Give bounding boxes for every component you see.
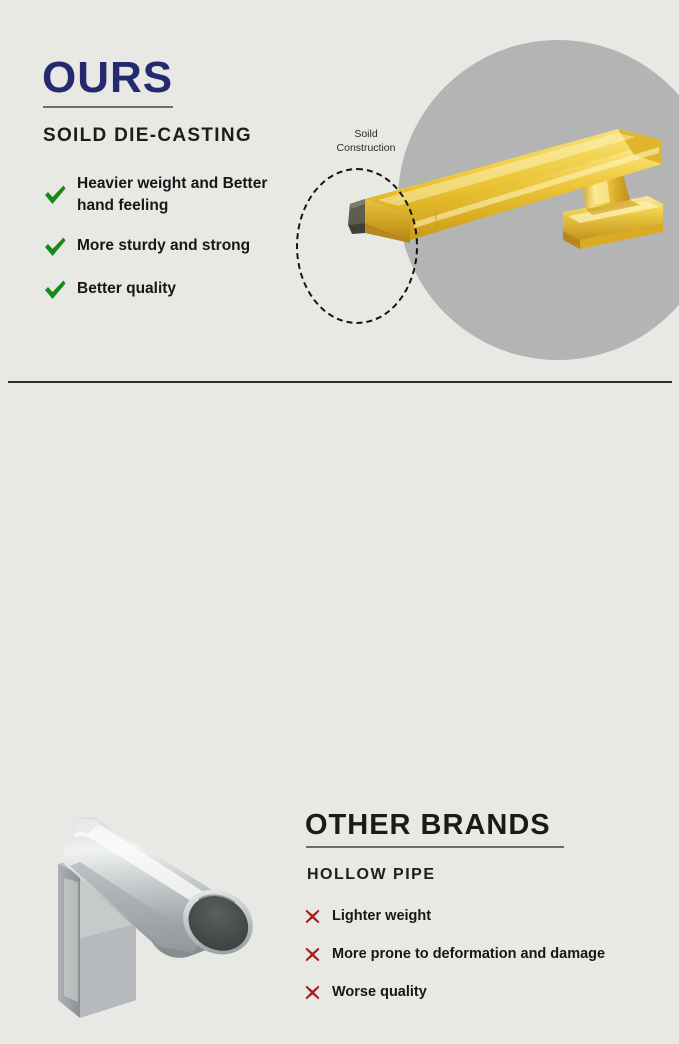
infographic-page: Soild Construction OURS SOILD DIE-CASTIN… [0, 0, 679, 679]
other-brands-heading-underline [306, 846, 564, 848]
list-item: Lighter weight [305, 907, 665, 926]
other-brands-bullet-list: Lighter weight More prone to deformation… [305, 907, 665, 1002]
bullet-text: Better quality [77, 278, 176, 300]
list-item: Better quality [42, 278, 342, 301]
ours-heading: OURS [42, 56, 342, 100]
list-item: More sturdy and strong [42, 235, 342, 258]
check-icon [42, 236, 68, 258]
bullet-text: More prone to deformation and damage [332, 945, 605, 964]
cross-icon [305, 985, 324, 1000]
ours-bullet-list: Heavier weight and Better hand feeling M… [42, 173, 342, 301]
ours-heading-underline [43, 106, 173, 108]
list-item: Worse quality [305, 983, 665, 1002]
list-item: More prone to deformation and damage [305, 945, 665, 964]
other-brands-text-column: OTHER BRANDS HOLLOW PIPE Lighter weight [305, 810, 665, 1021]
silver-product-scene [40, 804, 290, 1044]
cross-icon [305, 947, 324, 962]
bullet-text: Heavier weight and Better hand feeling [77, 173, 302, 218]
check-icon [42, 184, 68, 206]
bullet-text: Worse quality [332, 983, 427, 1002]
bullet-text: More sturdy and strong [77, 235, 250, 257]
section-ours: Soild Construction OURS SOILD DIE-CASTIN… [0, 0, 679, 382]
section-divider [8, 381, 672, 383]
ours-subheading: SOILD DIE-CASTING [43, 125, 342, 147]
cross-icon [305, 909, 324, 924]
other-brands-subheading: HOLLOW PIPE [307, 866, 665, 884]
check-icon [42, 279, 68, 301]
section-other-brands: OTHER BRANDS HOLLOW PIPE Lighter weight [0, 384, 679, 679]
list-item: Heavier weight and Better hand feeling [42, 173, 342, 218]
bullet-text: Lighter weight [332, 907, 431, 926]
ours-text-column: OURS SOILD DIE-CASTING Heavier weight an… [42, 56, 342, 321]
other-brands-heading: OTHER BRANDS [305, 810, 665, 840]
